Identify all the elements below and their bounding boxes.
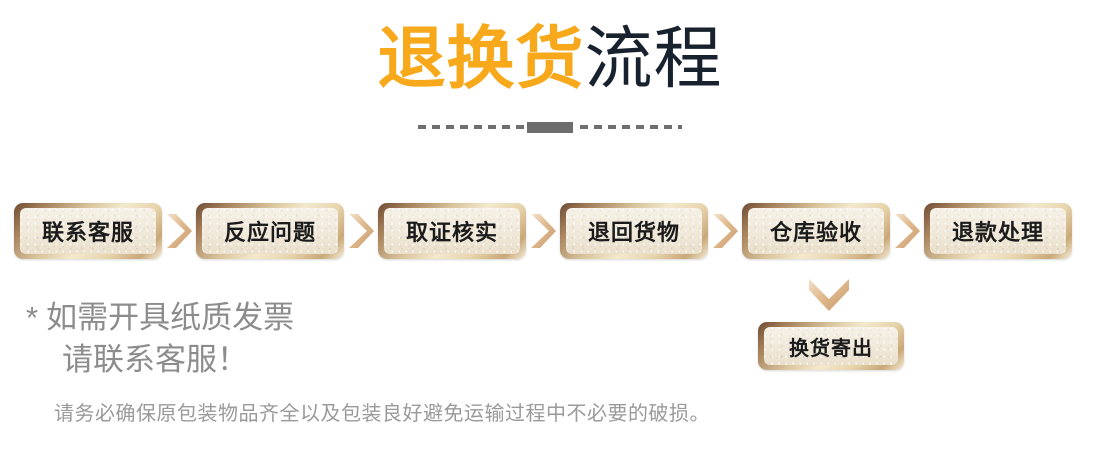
flow-step-label: 取证核实 — [406, 215, 498, 247]
divider-dash-left — [418, 125, 526, 129]
flow-step-inner: 退回货物 — [566, 208, 702, 254]
flow-step-inner: 反应问题 — [202, 208, 338, 254]
flow-step-warehouse-inspection[interactable]: 仓库验收 — [742, 203, 890, 259]
flow-step-inner: 退款处理 — [930, 208, 1066, 254]
flow-step-inner: 换货寄出 — [764, 327, 898, 365]
flow-step-refund-processing[interactable]: 退款处理 — [924, 203, 1072, 259]
page-title: 退换货流程 — [0, 18, 1100, 100]
flow-step-inner: 仓库验收 — [748, 208, 884, 254]
flow-step-return-goods[interactable]: 退回货物 — [560, 203, 708, 259]
flow-step-verify-evidence[interactable]: 取证核实 — [378, 203, 526, 259]
flow-step-label: 退回货物 — [588, 215, 680, 247]
dashed-divider — [0, 120, 1100, 134]
flow-step-inner: 取证核实 — [384, 208, 520, 254]
chevron-right-icon — [344, 211, 378, 251]
title-text: 退换货流程 — [377, 18, 722, 100]
flow-steps-row: 联系客服 反应问题 取证核实 — [0, 198, 1100, 264]
chevron-down-icon — [806, 276, 852, 316]
flow-spacer-left — [0, 211, 14, 251]
flow-step-label: 退款处理 — [952, 215, 1044, 247]
chevron-right-icon — [890, 211, 924, 251]
invoice-note: *如需开具纸质发票 请联系客服！ — [26, 297, 294, 381]
title-highlight: 退换货 — [377, 21, 584, 97]
flow-step-report-issue[interactable]: 反应问题 — [196, 203, 344, 259]
chevron-right-icon — [162, 211, 196, 251]
flow-step-label: 换货寄出 — [789, 332, 873, 361]
flow-step-label: 联系客服 — [42, 215, 134, 247]
flow-step-label: 反应问题 — [224, 215, 316, 247]
title-rest: 流程 — [585, 21, 723, 97]
invoice-note-text-2: 请联系客服！ — [26, 339, 294, 381]
flow-step-inner: 联系客服 — [20, 208, 156, 254]
invoice-note-line-1: *如需开具纸质发票 — [26, 297, 294, 339]
flow-step-label: 仓库验收 — [770, 215, 862, 247]
invoice-note-text-1: 如需开具纸质发票 — [46, 300, 294, 335]
chevron-right-icon — [526, 211, 560, 251]
asterisk-marker: * — [26, 300, 38, 335]
divider-center-block — [527, 122, 573, 133]
packaging-caption: 请务必确保原包装物品齐全以及包装良好避免运输过程中不必要的破损。 — [54, 400, 710, 428]
divider-dash-right — [574, 125, 682, 129]
flow-step-exchange-shipment[interactable]: 换货寄出 — [758, 322, 904, 370]
flow-step-contact-service[interactable]: 联系客服 — [14, 203, 162, 259]
chevron-right-icon — [708, 211, 742, 251]
